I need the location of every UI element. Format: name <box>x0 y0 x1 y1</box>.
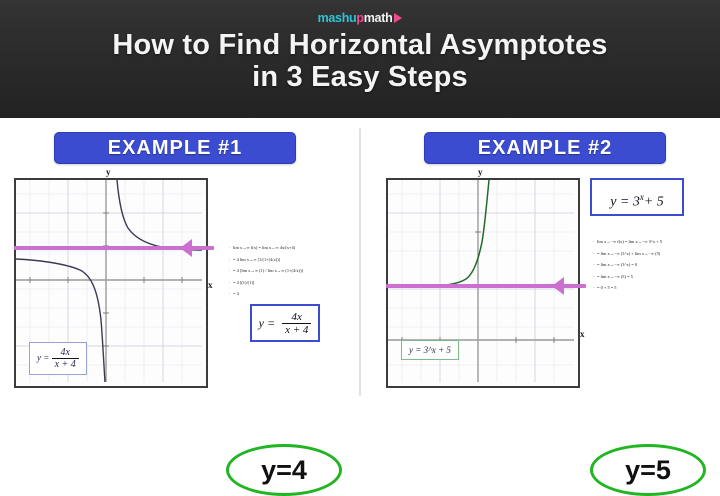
example-1-steps-list: ·lim x→∞ f(x) = lim x→∞ 4x/(x+4) ·= 4 li… <box>229 242 303 300</box>
example-1-step-text-4: = 4 <box>233 291 239 296</box>
example-2-step: ·= lim x→−∞ (3^x) = 0 <box>593 259 662 271</box>
example-2-formula-box: y = 3x+ 5 <box>590 178 684 216</box>
example-2-formula-base: y = 3 <box>610 195 640 210</box>
example-1-x-axis-label: x <box>208 281 213 290</box>
example-2-answer: y=5 <box>590 444 706 496</box>
example-1-formula-fraction: 4x x + 4 <box>282 311 311 336</box>
example-1-step-text-0: lim x→∞ f(x) = lim x→∞ 4x/(x+4) <box>233 245 295 250</box>
logo-text-p: p <box>356 11 363 25</box>
page-title: How to Find Horizontal Asymptotes in 3 E… <box>0 29 720 93</box>
example-1-formula-lhs: y = <box>259 316 275 331</box>
example-2-step: ·lim x→−∞ f(x) = lim x→−∞ 3^x + 5 <box>593 236 662 248</box>
example-1-graph: y = 4xx + 4 <box>14 178 208 388</box>
example-1-y-axis-label: y <box>106 168 111 177</box>
title-line-1: How to Find Horizontal Asymptotes <box>112 29 607 61</box>
example-1-step: ·= 4 [(1)/(1)] <box>229 277 303 289</box>
example-2-asymptote-arrowhead <box>552 277 564 295</box>
example-panel-1: EXAMPLE #1 y x <box>0 118 360 404</box>
title-line-2: in 3 Easy Steps <box>0 61 720 93</box>
example-1-inset-fraction: 4xx + 4 <box>52 347 79 370</box>
example-1-step: ·= 4 lim x→∞ [1/(1+(4/x))] <box>229 254 303 266</box>
example-1-inset-formula: y = 4xx + 4 <box>29 342 87 375</box>
example-2-step-text-2: = lim x→−∞ (3^x) = 0 <box>597 262 637 267</box>
header-bar: mashupmath How to Find Horizontal Asympt… <box>0 0 720 118</box>
example-2-step-text-1: = lim x→−∞ (3^x) + lim x→−∞ (5) <box>597 251 660 256</box>
example-2-inset-text: y = 3^x + 5 <box>409 345 451 355</box>
example-1-formula-denominator: x + 4 <box>282 324 311 336</box>
example-1-step: ·= 4 [lim x→∞ (1) / lim x→∞ (1+(4/x))] <box>229 265 303 277</box>
example-2-step: ·= 0 + 5 = 5 <box>593 282 662 294</box>
example-1-asymptote-arrowhead <box>180 239 192 257</box>
example-1-formula-box: y = 4x x + 4 <box>250 304 320 342</box>
example-2-step: ·= lim x→−∞ (3^x) + lim x→−∞ (5) <box>593 248 662 260</box>
logo-text-math: math <box>364 11 393 25</box>
example-1-formula-numerator: 4x <box>282 311 311 324</box>
example-1-answer: y=4 <box>226 444 342 496</box>
example-panel-2: EXAMPLE #2 y x <box>360 118 720 404</box>
example-1-step: ·= 4 <box>229 288 303 300</box>
example-2-step-text-4: = 0 + 5 = 5 <box>597 285 617 290</box>
slide-root: mashupmath How to Find Horizontal Asympt… <box>0 0 720 404</box>
logo-text-mashu: mashu <box>318 11 357 25</box>
example-1-step-text-2: = 4 [lim x→∞ (1) / lim x→∞ (1+(4/x))] <box>233 268 303 273</box>
content-area: EXAMPLE #1 y x <box>0 118 720 404</box>
example-2-graph: y = 3^x + 5 <box>386 178 580 388</box>
example-1-inset-denominator: x + 4 <box>52 359 79 370</box>
example-1-step: ·lim x→∞ f(x) = lim x→∞ 4x/(x+4) <box>229 242 303 254</box>
example-1-inset-lhs: y = <box>37 353 52 363</box>
example-2-y-axis-label: y <box>478 168 483 177</box>
example-1-step-text-3: = 4 [(1)/(1)] <box>233 280 254 285</box>
example-2-inset-formula: y = 3^x + 5 <box>401 340 459 360</box>
brand-logo[interactable]: mashupmath <box>0 11 720 25</box>
example-1-inset-numerator: 4x <box>52 347 79 359</box>
example-2-formula-tail: + 5 <box>644 195 664 210</box>
example-2-step-text-0: lim x→−∞ f(x) = lim x→−∞ 3^x + 5 <box>597 239 662 244</box>
example-2-banner: EXAMPLE #2 <box>424 132 666 164</box>
example-1-step-text-1: = 4 lim x→∞ [1/(1+(4/x))] <box>233 257 280 262</box>
example-1-banner: EXAMPLE #1 <box>54 132 296 164</box>
example-2-step-text-3: = lim x→−∞ (5) = 5 <box>597 274 633 279</box>
example-2-steps-list: ·lim x→−∞ f(x) = lim x→−∞ 3^x + 5 ·= lim… <box>593 236 662 294</box>
play-triangle-icon <box>394 13 402 23</box>
example-2-step: ·= lim x→−∞ (5) = 5 <box>593 271 662 283</box>
example-2-x-axis-label: x <box>580 330 585 339</box>
